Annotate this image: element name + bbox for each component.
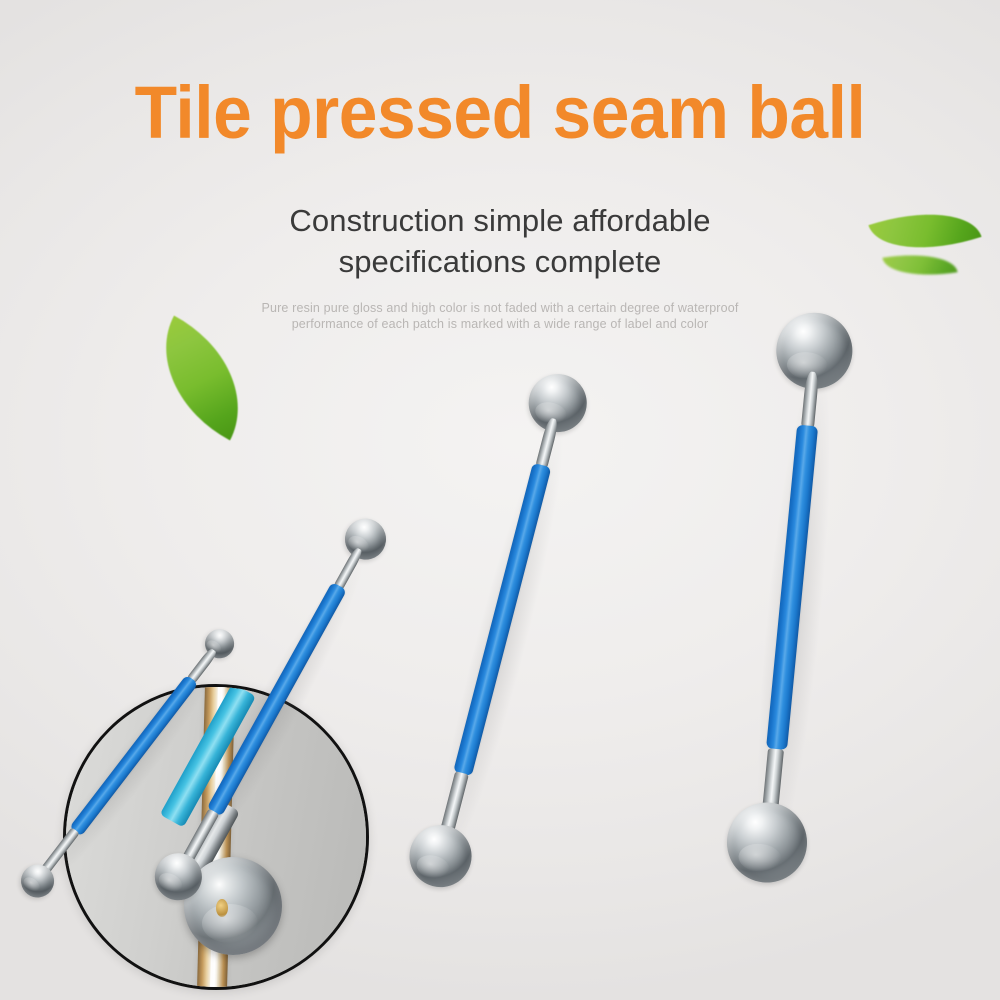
product-banner: Tile pressed seam ball Construction simp… [0, 0, 1000, 1000]
caption-line-1: Pure resin pure gloss and high color is … [0, 300, 1000, 316]
tool-ball-top [337, 511, 393, 567]
caption-line-2: performance of each patch is marked with… [0, 316, 1000, 332]
tool-ball-bottom [723, 799, 810, 886]
gold-reflection [216, 899, 228, 917]
subtitle-line-2: specifications complete [0, 241, 1000, 282]
subtitle-line-1: Construction simple affordable [0, 200, 1000, 241]
tool-ball-top [522, 368, 593, 439]
tool-3 [433, 375, 565, 886]
leaf-icon-left [135, 316, 270, 441]
tool-4-largest [763, 313, 818, 882]
page-caption: Pure resin pure gloss and high color is … [0, 300, 1000, 332]
page-title: Tile pressed seam ball [30, 74, 970, 152]
page-subtitle: Construction simple affordable specifica… [0, 200, 1000, 282]
